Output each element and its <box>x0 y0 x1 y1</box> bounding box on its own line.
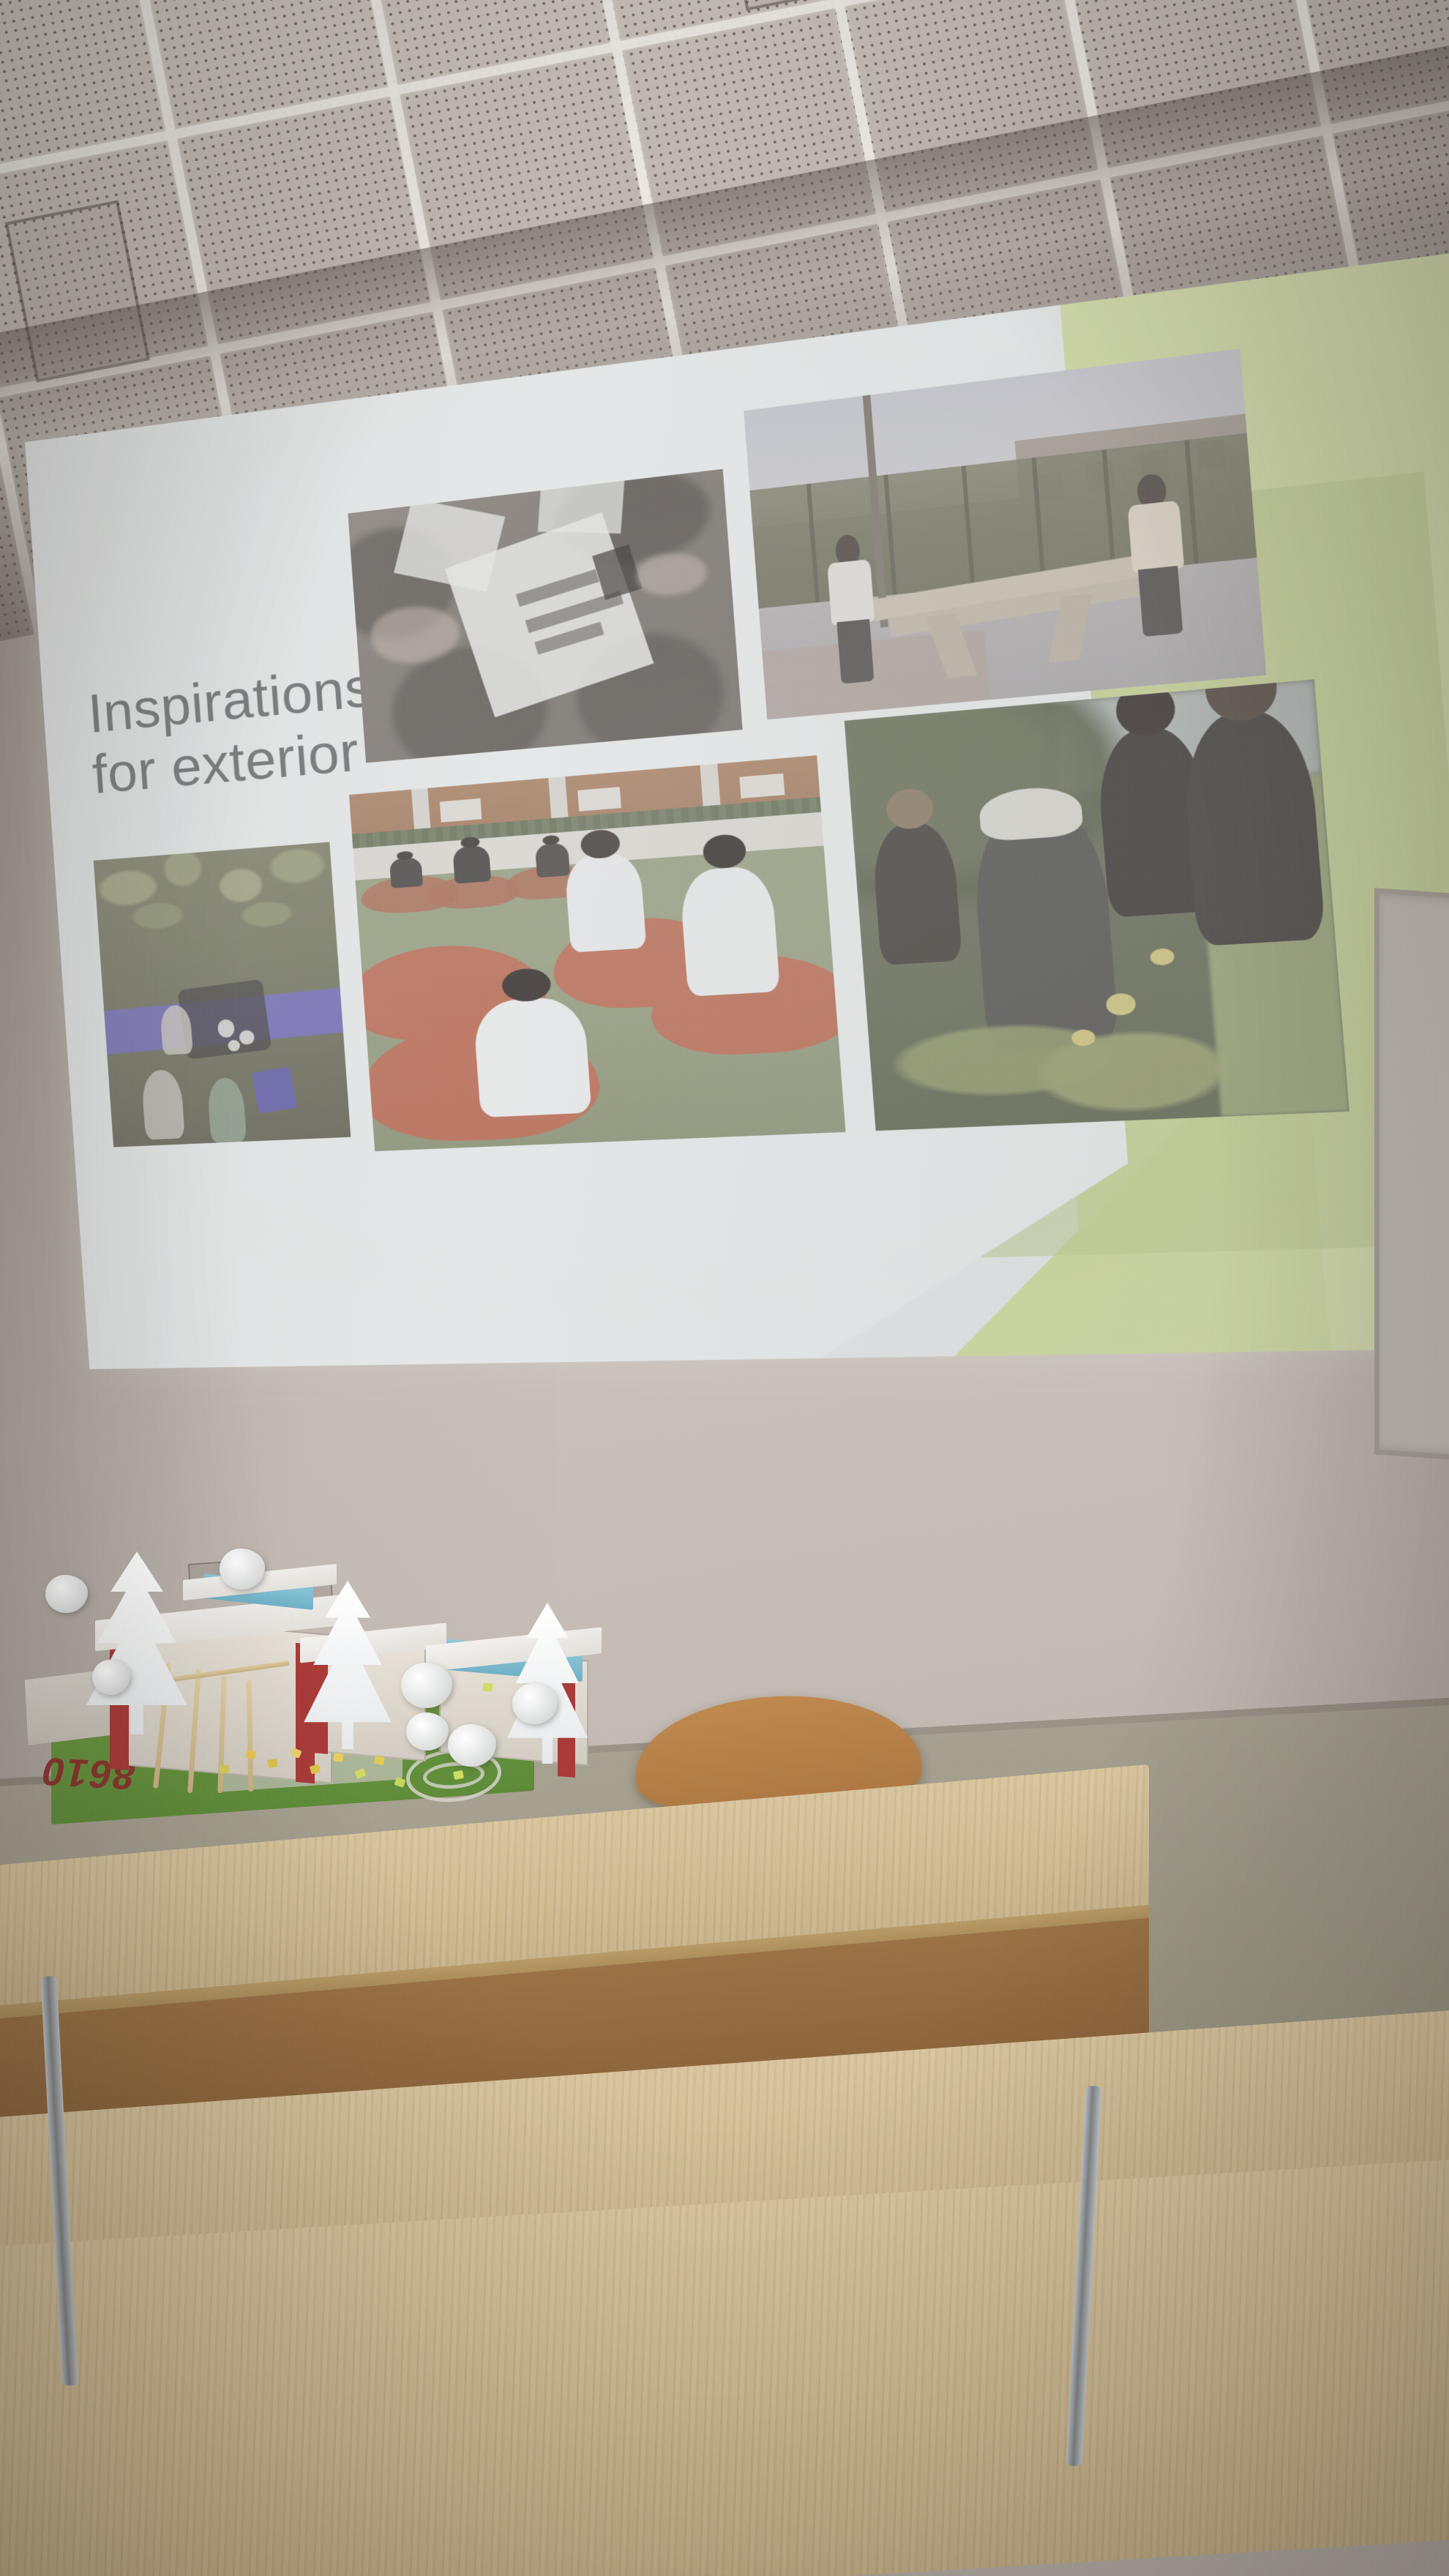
model-confetti <box>267 1759 277 1768</box>
classroom-photo: Inspirations for exterior <box>0 0 1449 2576</box>
model-confetti <box>374 1756 385 1765</box>
model-confetti <box>482 1682 493 1692</box>
slide-photo-gardening <box>845 679 1349 1131</box>
whiteboard <box>1374 888 1449 1461</box>
slide-photo-beanbags <box>349 755 846 1151</box>
slide-photo-blue-table <box>94 842 351 1147</box>
slide-photo-workshop-table <box>348 469 742 763</box>
model-confetti <box>333 1753 343 1761</box>
slide-photo-plaza-table <box>744 348 1266 719</box>
model-confetti <box>220 1764 230 1773</box>
